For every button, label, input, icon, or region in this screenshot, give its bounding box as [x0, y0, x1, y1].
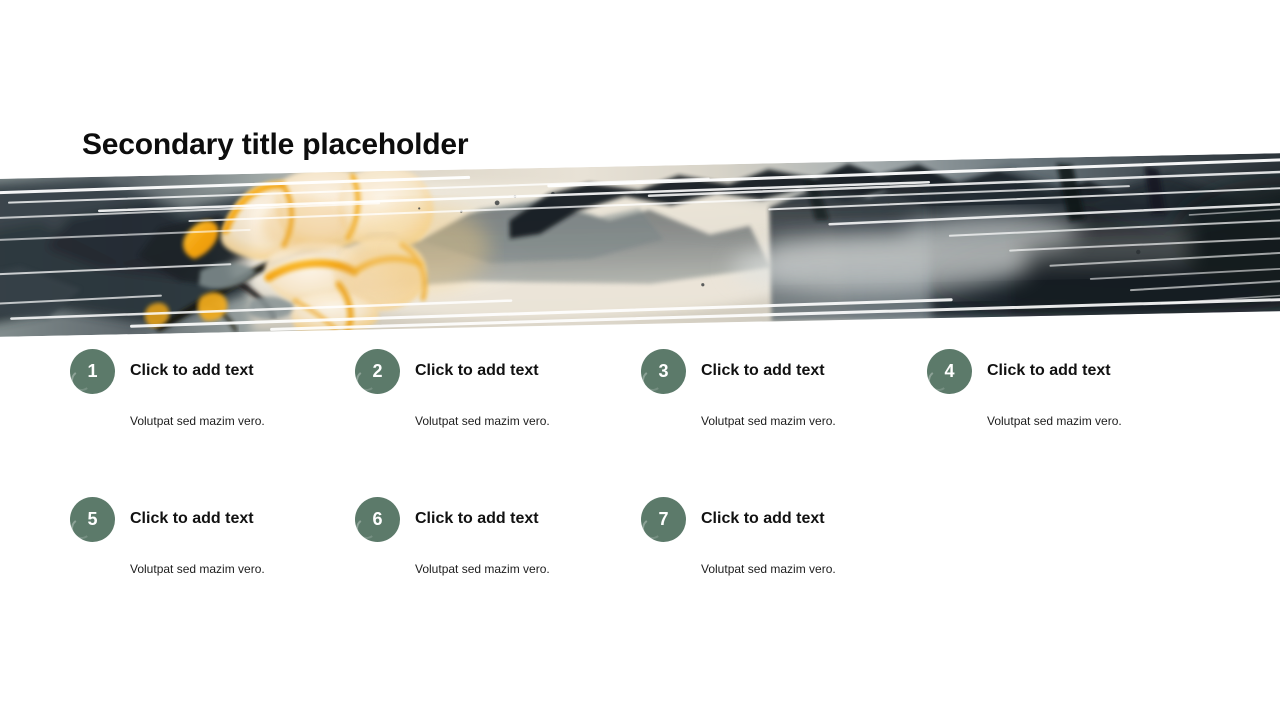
item-description[interactable]: Volutpat sed mazim vero.: [701, 562, 911, 576]
list-item-header: 4 Click to add text: [927, 348, 1197, 394]
list-item-header: 2 Click to add text: [355, 348, 625, 394]
item-title[interactable]: Click to add text: [130, 510, 254, 528]
list-item[interactable]: 2 Click to add text Volutpat sed mazim v…: [355, 348, 625, 428]
gold-buds: [143, 220, 228, 327]
list-item[interactable]: 3 Click to add text Volutpat sed mazim v…: [641, 348, 911, 428]
items-row-2: 5 Click to add text Volutpat sed mazim v…: [0, 496, 1280, 644]
ink-wash-landscape-image: [0, 152, 1280, 338]
ink-branch: [158, 233, 396, 332]
item-title[interactable]: Click to add text: [415, 510, 539, 528]
list-item[interactable]: 6 Click to add text Volutpat sed mazim v…: [355, 496, 625, 576]
items-grid: 1 Click to add text Volutpat sed mazim v…: [0, 348, 1280, 644]
item-description[interactable]: Volutpat sed mazim vero.: [130, 414, 340, 428]
list-item-header: 7 Click to add text: [641, 496, 911, 542]
item-title[interactable]: Click to add text: [701, 510, 825, 528]
item-title[interactable]: Click to add text: [130, 362, 254, 380]
list-item-header: 1 Click to add text: [70, 348, 340, 394]
item-title[interactable]: Click to add text: [415, 362, 539, 380]
list-item[interactable]: 7 Click to add text Volutpat sed mazim v…: [641, 496, 911, 576]
item-title[interactable]: Click to add text: [701, 362, 825, 380]
list-item[interactable]: 5 Click to add text Volutpat sed mazim v…: [70, 496, 340, 576]
item-description[interactable]: Volutpat sed mazim vero.: [701, 414, 911, 428]
list-item-header: 6 Click to add text: [355, 496, 625, 542]
item-description[interactable]: Volutpat sed mazim vero.: [415, 562, 625, 576]
item-number-badge: 5: [70, 497, 115, 542]
item-number-badge: 1: [70, 349, 115, 394]
magnolia-blossom: [220, 166, 436, 333]
items-row-1: 1 Click to add text Volutpat sed mazim v…: [0, 348, 1280, 496]
item-number-badge: 7: [641, 497, 686, 542]
decorative-banner: [0, 152, 1280, 342]
item-description[interactable]: Volutpat sed mazim vero.: [987, 414, 1197, 428]
item-number-badge: 2: [355, 349, 400, 394]
item-number-badge: 4: [927, 349, 972, 394]
list-item-header: 3 Click to add text: [641, 348, 911, 394]
item-description[interactable]: Volutpat sed mazim vero.: [415, 414, 625, 428]
list-item-header: 5 Click to add text: [70, 496, 340, 542]
slide-canvas: Secondary title placeholder: [0, 0, 1280, 720]
page-title: Secondary title placeholder: [82, 128, 468, 161]
white-streaks: [0, 158, 1280, 336]
item-description[interactable]: Volutpat sed mazim vero.: [130, 562, 340, 576]
list-item[interactable]: 1 Click to add text Volutpat sed mazim v…: [70, 348, 340, 428]
list-item[interactable]: 4 Click to add text Volutpat sed mazim v…: [927, 348, 1197, 428]
banner-skew-layer: [0, 152, 1280, 338]
item-number-badge: 3: [641, 349, 686, 394]
item-title[interactable]: Click to add text: [987, 362, 1111, 380]
item-number-badge: 6: [355, 497, 400, 542]
